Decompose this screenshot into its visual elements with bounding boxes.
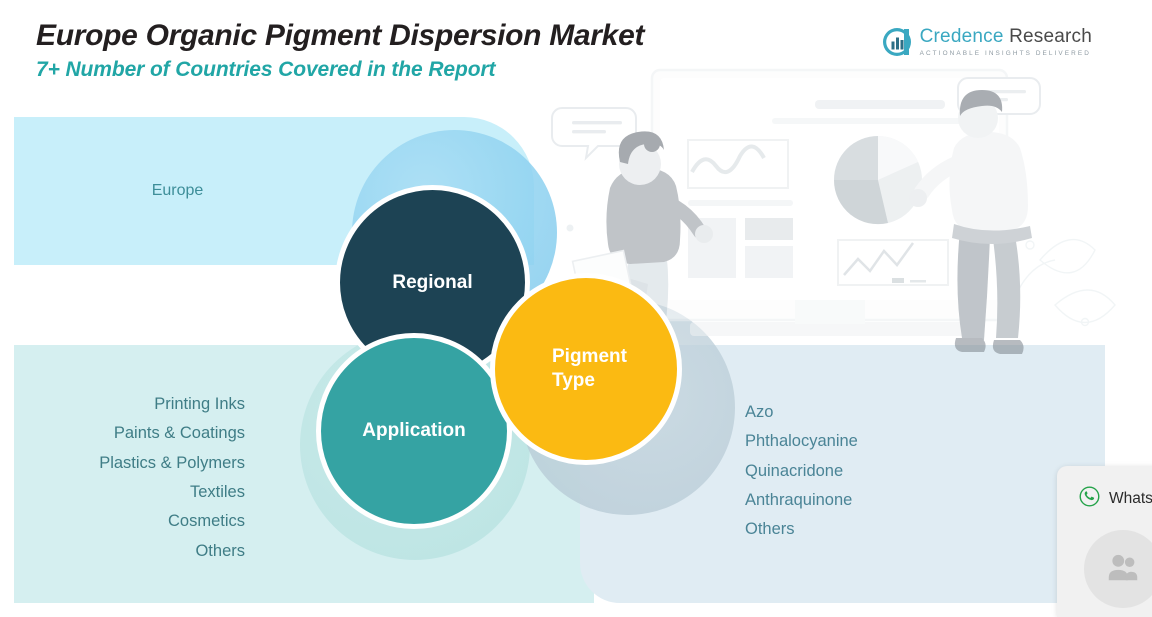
venn-label-pigment-type-line2: Type <box>552 370 595 391</box>
list-item: Azo <box>745 398 1045 427</box>
whatsapp-widget[interactable]: WhatsApp <box>1057 466 1152 617</box>
logo-tagline: Actionable Insights Delivered <box>920 50 1092 57</box>
list-item: Printing Inks <box>40 390 245 419</box>
venn-label-regional: Regional <box>392 272 472 294</box>
venn-circle-pigment-type[interactable]: Pigment Type <box>490 273 682 465</box>
list-item: Plastics & Polymers <box>40 449 245 478</box>
bar-chart-circle-icon <box>882 27 912 57</box>
list-item: Phthalocyanine <box>745 427 1045 456</box>
list-item: Europe <box>40 182 315 200</box>
logo-name-rest: Research <box>1004 26 1092 47</box>
whatsapp-header[interactable]: WhatsApp <box>1057 466 1152 512</box>
venn-label-pigment-type-line1: Pigment <box>552 346 627 367</box>
application-list: Printing Inks Paints & Coatings Plastics… <box>40 390 245 566</box>
list-item: Paints & Coatings <box>40 419 245 448</box>
venn-circle-application[interactable]: Application <box>316 333 512 529</box>
region-list: Europe <box>40 182 315 200</box>
list-item: Anthraquinone <box>745 486 1045 515</box>
logo-text: Credence Research Actionable Insights De… <box>920 27 1092 57</box>
whatsapp-icon <box>1079 486 1100 512</box>
list-item: Others <box>40 537 245 566</box>
brand-logo[interactable]: Credence Research Actionable Insights De… <box>882 27 1092 57</box>
list-item: Quinacridone <box>745 457 1045 486</box>
logo-name: Credence Research <box>920 27 1092 46</box>
venn-label-pigment-type: Pigment Type <box>552 345 627 394</box>
whatsapp-label: WhatsApp <box>1109 490 1152 508</box>
whatsapp-avatar[interactable] <box>1084 530 1152 608</box>
list-item: Cosmetics <box>40 507 245 536</box>
venn-label-application: Application <box>362 420 465 442</box>
pigment-type-list: Azo Phthalocyanine Quinacridone Anthraqu… <box>745 398 1045 545</box>
logo-name-bold: Credence <box>920 26 1004 47</box>
people-icon <box>1104 548 1142 591</box>
list-item: Textiles <box>40 478 245 507</box>
page-title: Europe Organic Pigment Dispersion Market <box>36 18 644 53</box>
list-item: Others <box>745 515 1045 544</box>
